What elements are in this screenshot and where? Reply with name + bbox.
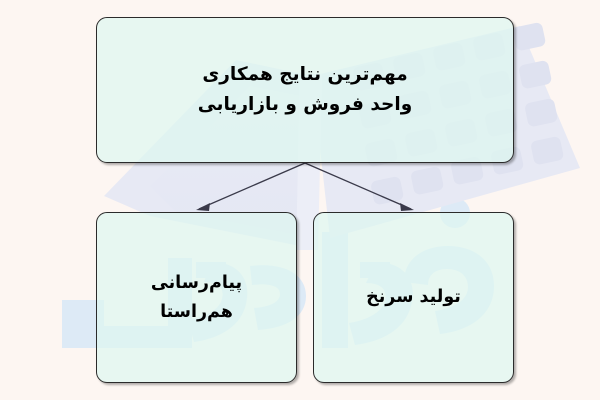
node-root-label: مهم‌ترین نتایج همکاری واحد فروش و بازاری…	[198, 60, 412, 120]
node-child-lead-generation[interactable]: تولید سرنخ	[313, 212, 514, 383]
edge-root-to-left	[199, 163, 305, 209]
node-child-lead-generation-label: تولید سرنخ	[366, 283, 461, 311]
edge-root-to-right	[305, 163, 411, 209]
diagram-canvas: مهم‌ترین نتایج همکاری واحد فروش و بازاری…	[0, 0, 600, 400]
arrowhead-right	[400, 203, 414, 211]
node-root[interactable]: مهم‌ترین نتایج همکاری واحد فروش و بازاری…	[96, 17, 514, 163]
node-child-messaging[interactable]: پیام‌رسانی هم‌راستا	[96, 212, 297, 383]
node-child-messaging-label: پیام‌رسانی هم‌راستا	[151, 269, 242, 326]
arrowhead-left	[196, 203, 210, 211]
